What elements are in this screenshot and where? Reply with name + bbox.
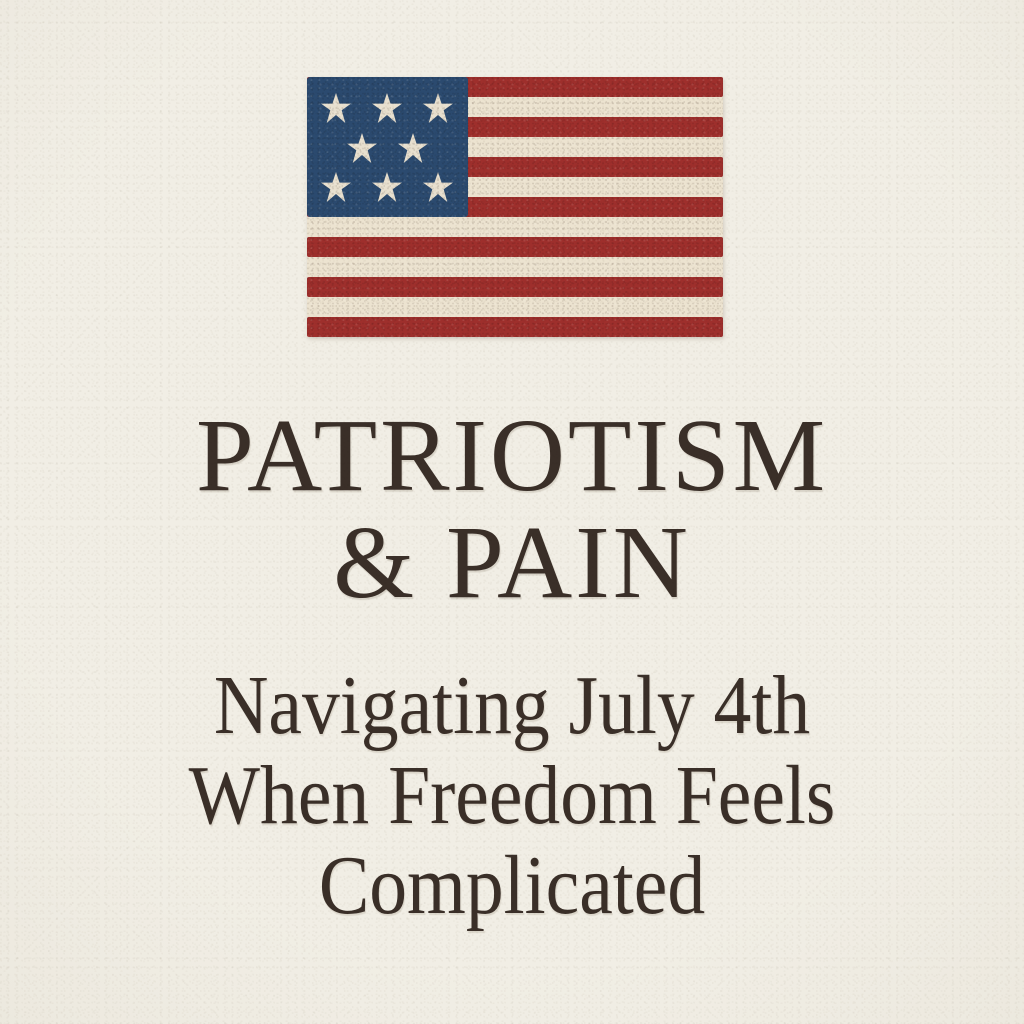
subtitle-line-2: When Freedom Feels [51, 754, 973, 838]
flag-stripe-pale [307, 217, 723, 237]
flag-star [372, 93, 402, 123]
flag-star [321, 93, 351, 123]
flag-stripe-pale [307, 297, 723, 317]
page-title-line-1: PATRIOTISM [0, 404, 1024, 508]
flag-star [372, 172, 402, 202]
american-flag [307, 77, 723, 337]
flag-star [423, 172, 453, 202]
flag-stripe-red [307, 277, 723, 297]
page-title-line-2: & PAIN [0, 511, 1024, 615]
poster-canvas: PATRIOTISM & PAIN Navigating July 4th Wh… [0, 0, 1024, 1024]
subtitle-line-1: Navigating July 4th [51, 664, 973, 748]
flag-star [347, 133, 377, 163]
flag-star [398, 133, 428, 163]
flag-stripe-red [307, 317, 723, 337]
flag-canton [307, 77, 468, 217]
flag-star [321, 172, 351, 202]
flag-stripe-pale [307, 257, 723, 277]
subtitle-line-3: Complicated [51, 844, 973, 928]
flag-stripe-red [307, 237, 723, 257]
flag-star [423, 93, 453, 123]
american-flag-illustration [307, 77, 723, 337]
